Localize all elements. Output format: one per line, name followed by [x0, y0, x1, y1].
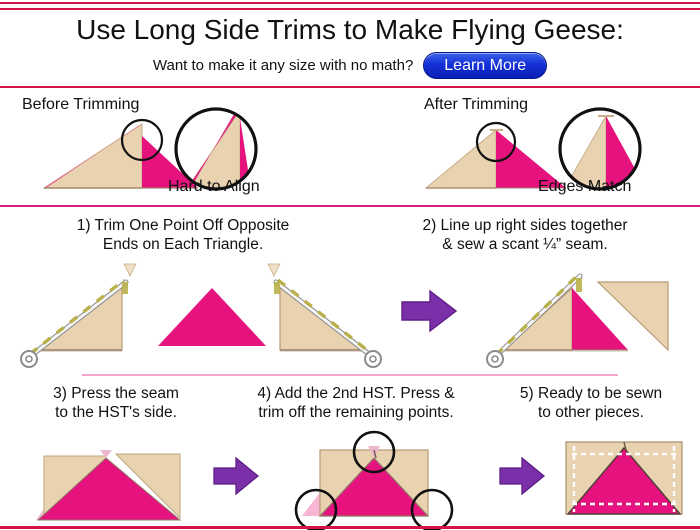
step-5-line-2: to other pieces. — [486, 403, 696, 422]
before-trimming-label: Before Trimming — [22, 96, 139, 114]
step-1-caption: 1) Trim One Point Off Opposite Ends on E… — [18, 216, 348, 254]
step-5-caption: 5) Ready to be sewn to other pieces. — [486, 384, 696, 422]
header-subtitle: Want to make it any size with no math? — [153, 57, 413, 74]
right-arrow-icon-2 — [212, 456, 260, 496]
header-subrow: Want to make it any size with no math? L… — [0, 52, 700, 79]
step-5-diagram — [560, 434, 690, 526]
right-arrow-icon — [400, 288, 458, 334]
step-1-center-triangle — [152, 280, 272, 352]
step-3-caption: 3) Press the seam to the HST's side. — [6, 384, 226, 422]
infographic-page: Use Long Side Trims to Make Flying Geese… — [0, 0, 700, 530]
step-1-left-triangle — [12, 258, 152, 370]
step-4-line-2: trim off the remaining points. — [228, 403, 484, 422]
step-2-line-2: & sew a scant ¼” seam. — [360, 235, 690, 254]
before-callout-label: Hard to Align — [168, 178, 260, 196]
row1-divider — [0, 205, 700, 207]
bottom-rule — [0, 526, 700, 529]
top-rule-lower — [0, 8, 700, 10]
step-4-caption: 4) Add the 2nd HST. Press & trim off the… — [228, 384, 484, 422]
step-4-line-1: 4) Add the 2nd HST. Press & — [228, 384, 484, 403]
step-1-line-1: 1) Trim One Point Off Opposite — [18, 216, 348, 235]
after-trimming-label: After Trimming — [424, 96, 528, 114]
row2-divider — [82, 374, 618, 376]
step-3-line-2: to the HST's side. — [6, 403, 226, 422]
page-title: Use Long Side Trims to Make Flying Geese… — [0, 14, 700, 46]
header-divider — [0, 86, 700, 88]
step-2-diagram — [468, 258, 688, 370]
step-4-diagram — [268, 428, 478, 530]
step-1-right-triangle — [262, 258, 402, 370]
step-3-line-1: 3) Press the seam — [6, 384, 226, 403]
step-5-line-1: 5) Ready to be sewn — [486, 384, 696, 403]
step-3-diagram — [28, 432, 208, 528]
step-1-line-2: Ends on Each Triangle. — [18, 235, 348, 254]
step-2-line-1: 2) Line up right sides together — [360, 216, 690, 235]
after-callout-label: Edges Match — [538, 178, 631, 196]
step-2-caption: 2) Line up right sides together & sew a … — [360, 216, 690, 254]
learn-more-button[interactable]: Learn More — [423, 52, 547, 79]
top-rule-upper — [0, 2, 700, 4]
right-arrow-icon-3 — [498, 456, 546, 496]
